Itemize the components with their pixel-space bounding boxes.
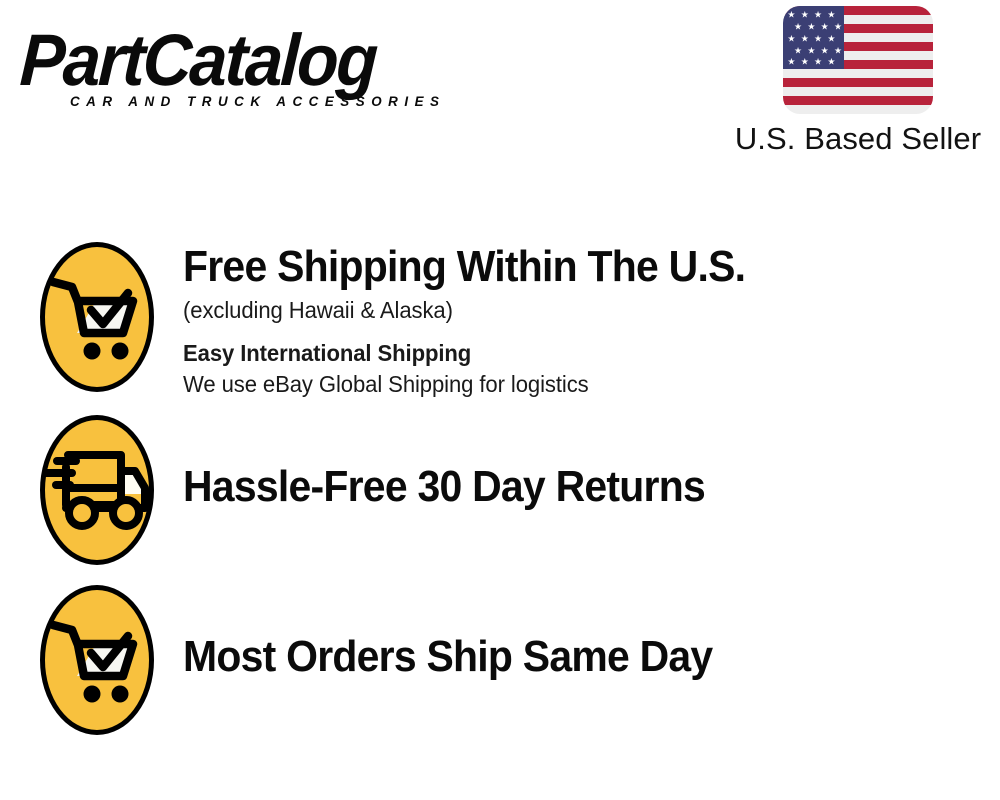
brand-logo[interactable]: PartCatalog CAR AND TRUCK ACCESSORIES (22, 24, 492, 116)
us-flag-icon: ★ ★ ★ ★ ★ ★ ★ ★ ★ ★ ★ ★ ★ ★ ★ ★ ★ ★ ★ ★ (783, 6, 933, 114)
feature-heading: Free Shipping Within The U.S. (183, 242, 745, 292)
brand-wordmark: PartCatalog (18, 24, 459, 98)
feature-icon-wrap (0, 585, 154, 735)
flag-star: ★ (814, 34, 822, 43)
flag-star: ★ (821, 22, 829, 31)
flag-star: ★ (807, 22, 815, 31)
feature-row: Free Shipping Within The U.S. (excluding… (0, 242, 1000, 399)
feature-row: Hassle-Free 30 Day Returns (0, 415, 1000, 565)
feature-subtext-international: Easy International Shipping (183, 338, 763, 368)
flag-star: ★ (834, 22, 842, 31)
seller-badge: ★ ★ ★ ★ ★ ★ ★ ★ ★ ★ ★ ★ ★ ★ ★ ★ ★ ★ ★ ★ (724, 6, 992, 157)
feature-subtext-logistics: We use eBay Global Shipping for logistic… (183, 369, 763, 399)
flag-star: ★ (787, 34, 795, 43)
flag-star: ★ (801, 10, 809, 19)
shopping-cart-check-icon (40, 242, 154, 392)
delivery-truck-icon (40, 415, 154, 565)
flag-star: ★ (801, 34, 809, 43)
seller-label: U.S. Based Seller (724, 121, 992, 157)
flag-star: ★ (814, 10, 822, 19)
flag-star: ★ (801, 57, 809, 66)
flag-star: ★ (827, 34, 835, 43)
flag-star: ★ (807, 46, 815, 55)
flag-star: ★ (794, 46, 802, 55)
feature-text: Free Shipping Within The U.S. (excluding… (154, 242, 788, 399)
feature-text: Most Orders Ship Same Day (154, 585, 752, 682)
flag-star: ★ (814, 57, 822, 66)
flag-star: ★ (827, 10, 835, 19)
feature-heading: Most Orders Ship Same Day (183, 632, 712, 682)
feature-heading: Hassle-Free 30 Day Returns (183, 462, 705, 512)
shopping-cart-check-icon (40, 585, 154, 735)
flag-star: ★ (821, 46, 829, 55)
page-header: PartCatalog CAR AND TRUCK ACCESSORIES ★ … (0, 0, 1000, 175)
flag-stripe (783, 78, 933, 87)
feature-icon-wrap (0, 242, 154, 392)
flag-star: ★ (794, 22, 802, 31)
flag-star: ★ (787, 10, 795, 19)
feature-icon-wrap (0, 415, 154, 565)
brand-tagline: CAR AND TRUCK ACCESSORIES (70, 94, 445, 109)
feature-text: Hassle-Free 30 Day Returns (154, 415, 744, 512)
flag-star: ★ (787, 57, 795, 66)
flag-canton: ★ ★ ★ ★ ★ ★ ★ ★ ★ ★ ★ ★ ★ ★ ★ ★ ★ ★ ★ ★ (783, 6, 844, 69)
feature-subtext-exclusion: (excluding Hawaii & Alaska) (183, 295, 763, 325)
flag-stripe (783, 96, 933, 105)
feature-row: Most Orders Ship Same Day (0, 585, 1000, 735)
flag-star: ★ (834, 46, 842, 55)
flag-star: ★ (827, 57, 835, 66)
